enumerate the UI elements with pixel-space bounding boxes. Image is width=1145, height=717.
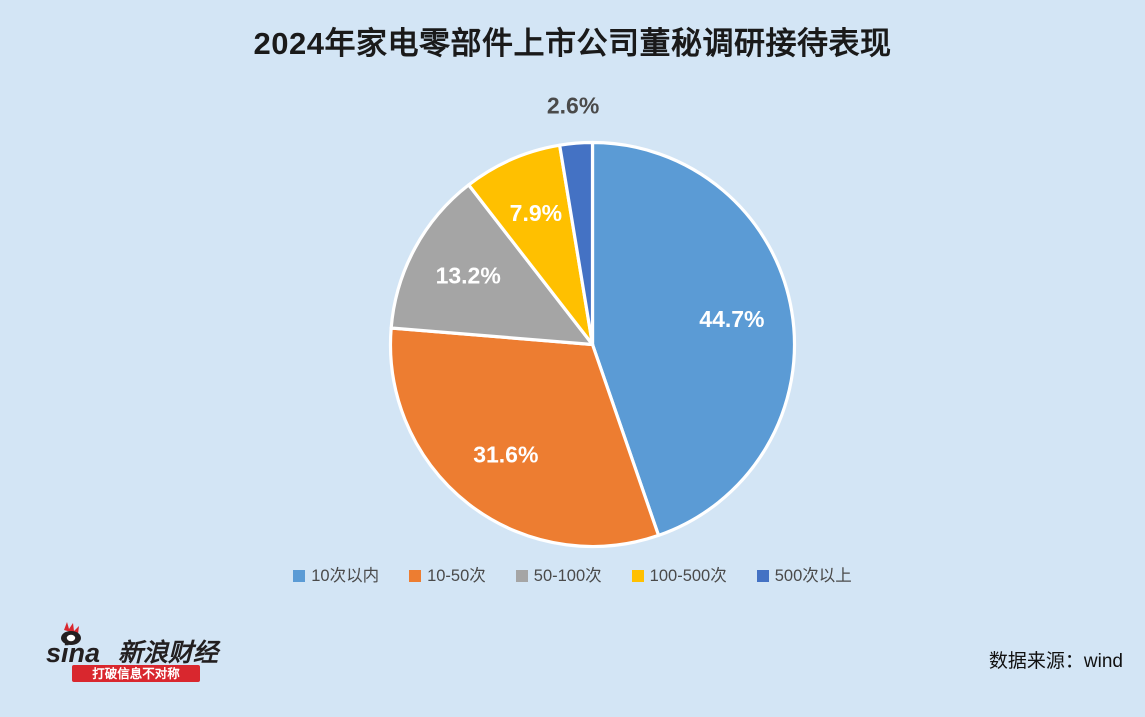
legend-item-label: 10-50次	[427, 568, 486, 585]
legend-item-label: 50-100次	[534, 568, 602, 585]
sina-logo-slogan: 打破信息不对称	[92, 666, 180, 681]
pie-chart-svg: 44.7%31.6%13.2%7.9%2.6%	[388, 140, 797, 549]
legend-item-label: 10次以内	[311, 568, 379, 585]
pie-slice-label: 2.6%	[547, 92, 599, 118]
sina-logo-svg: sina 新浪财经 打破信息不对称	[42, 620, 242, 682]
legend-swatch-icon	[293, 570, 305, 582]
pie-slice-label: 7.9%	[510, 200, 562, 226]
sina-finance-logo: sina 新浪财经 打破信息不对称	[42, 620, 242, 682]
legend-item[interactable]: 50-100次	[516, 568, 602, 585]
legend-item[interactable]: 500次以上	[757, 568, 852, 585]
chart-page: 2024年家电零部件上市公司董秘调研接待表现 44.7%31.6%13.2%7.…	[0, 0, 1145, 717]
legend-item[interactable]: 10次以内	[293, 568, 379, 585]
pie-slice-label: 44.7%	[699, 306, 764, 332]
sina-logo-latin: sina	[46, 638, 100, 668]
legend-swatch-icon	[632, 570, 644, 582]
pie-slice-label: 13.2%	[436, 262, 501, 288]
legend-swatch-icon	[757, 570, 769, 582]
sina-logo-cn: 新浪财经	[118, 639, 221, 667]
sina-logo-slogan-banner: 打破信息不对称	[72, 665, 200, 682]
pie-chart: 44.7%31.6%13.2%7.9%2.6%	[388, 140, 797, 549]
legend-item-label: 500次以上	[775, 568, 852, 585]
legend-swatch-icon	[409, 570, 421, 582]
legend-swatch-icon	[516, 570, 528, 582]
legend-item[interactable]: 10-50次	[409, 568, 486, 585]
page-title: 2024年家电零部件上市公司董秘调研接待表现	[0, 18, 1145, 63]
legend-item-label: 100-500次	[650, 568, 727, 585]
chart-legend: 10次以内10-50次50-100次100-500次500次以上	[0, 568, 1145, 585]
pie-slices	[390, 143, 794, 547]
data-source-note: 数据来源：wind	[989, 646, 1123, 673]
legend-item[interactable]: 100-500次	[632, 568, 727, 585]
pie-slice-label: 31.6%	[473, 441, 538, 467]
